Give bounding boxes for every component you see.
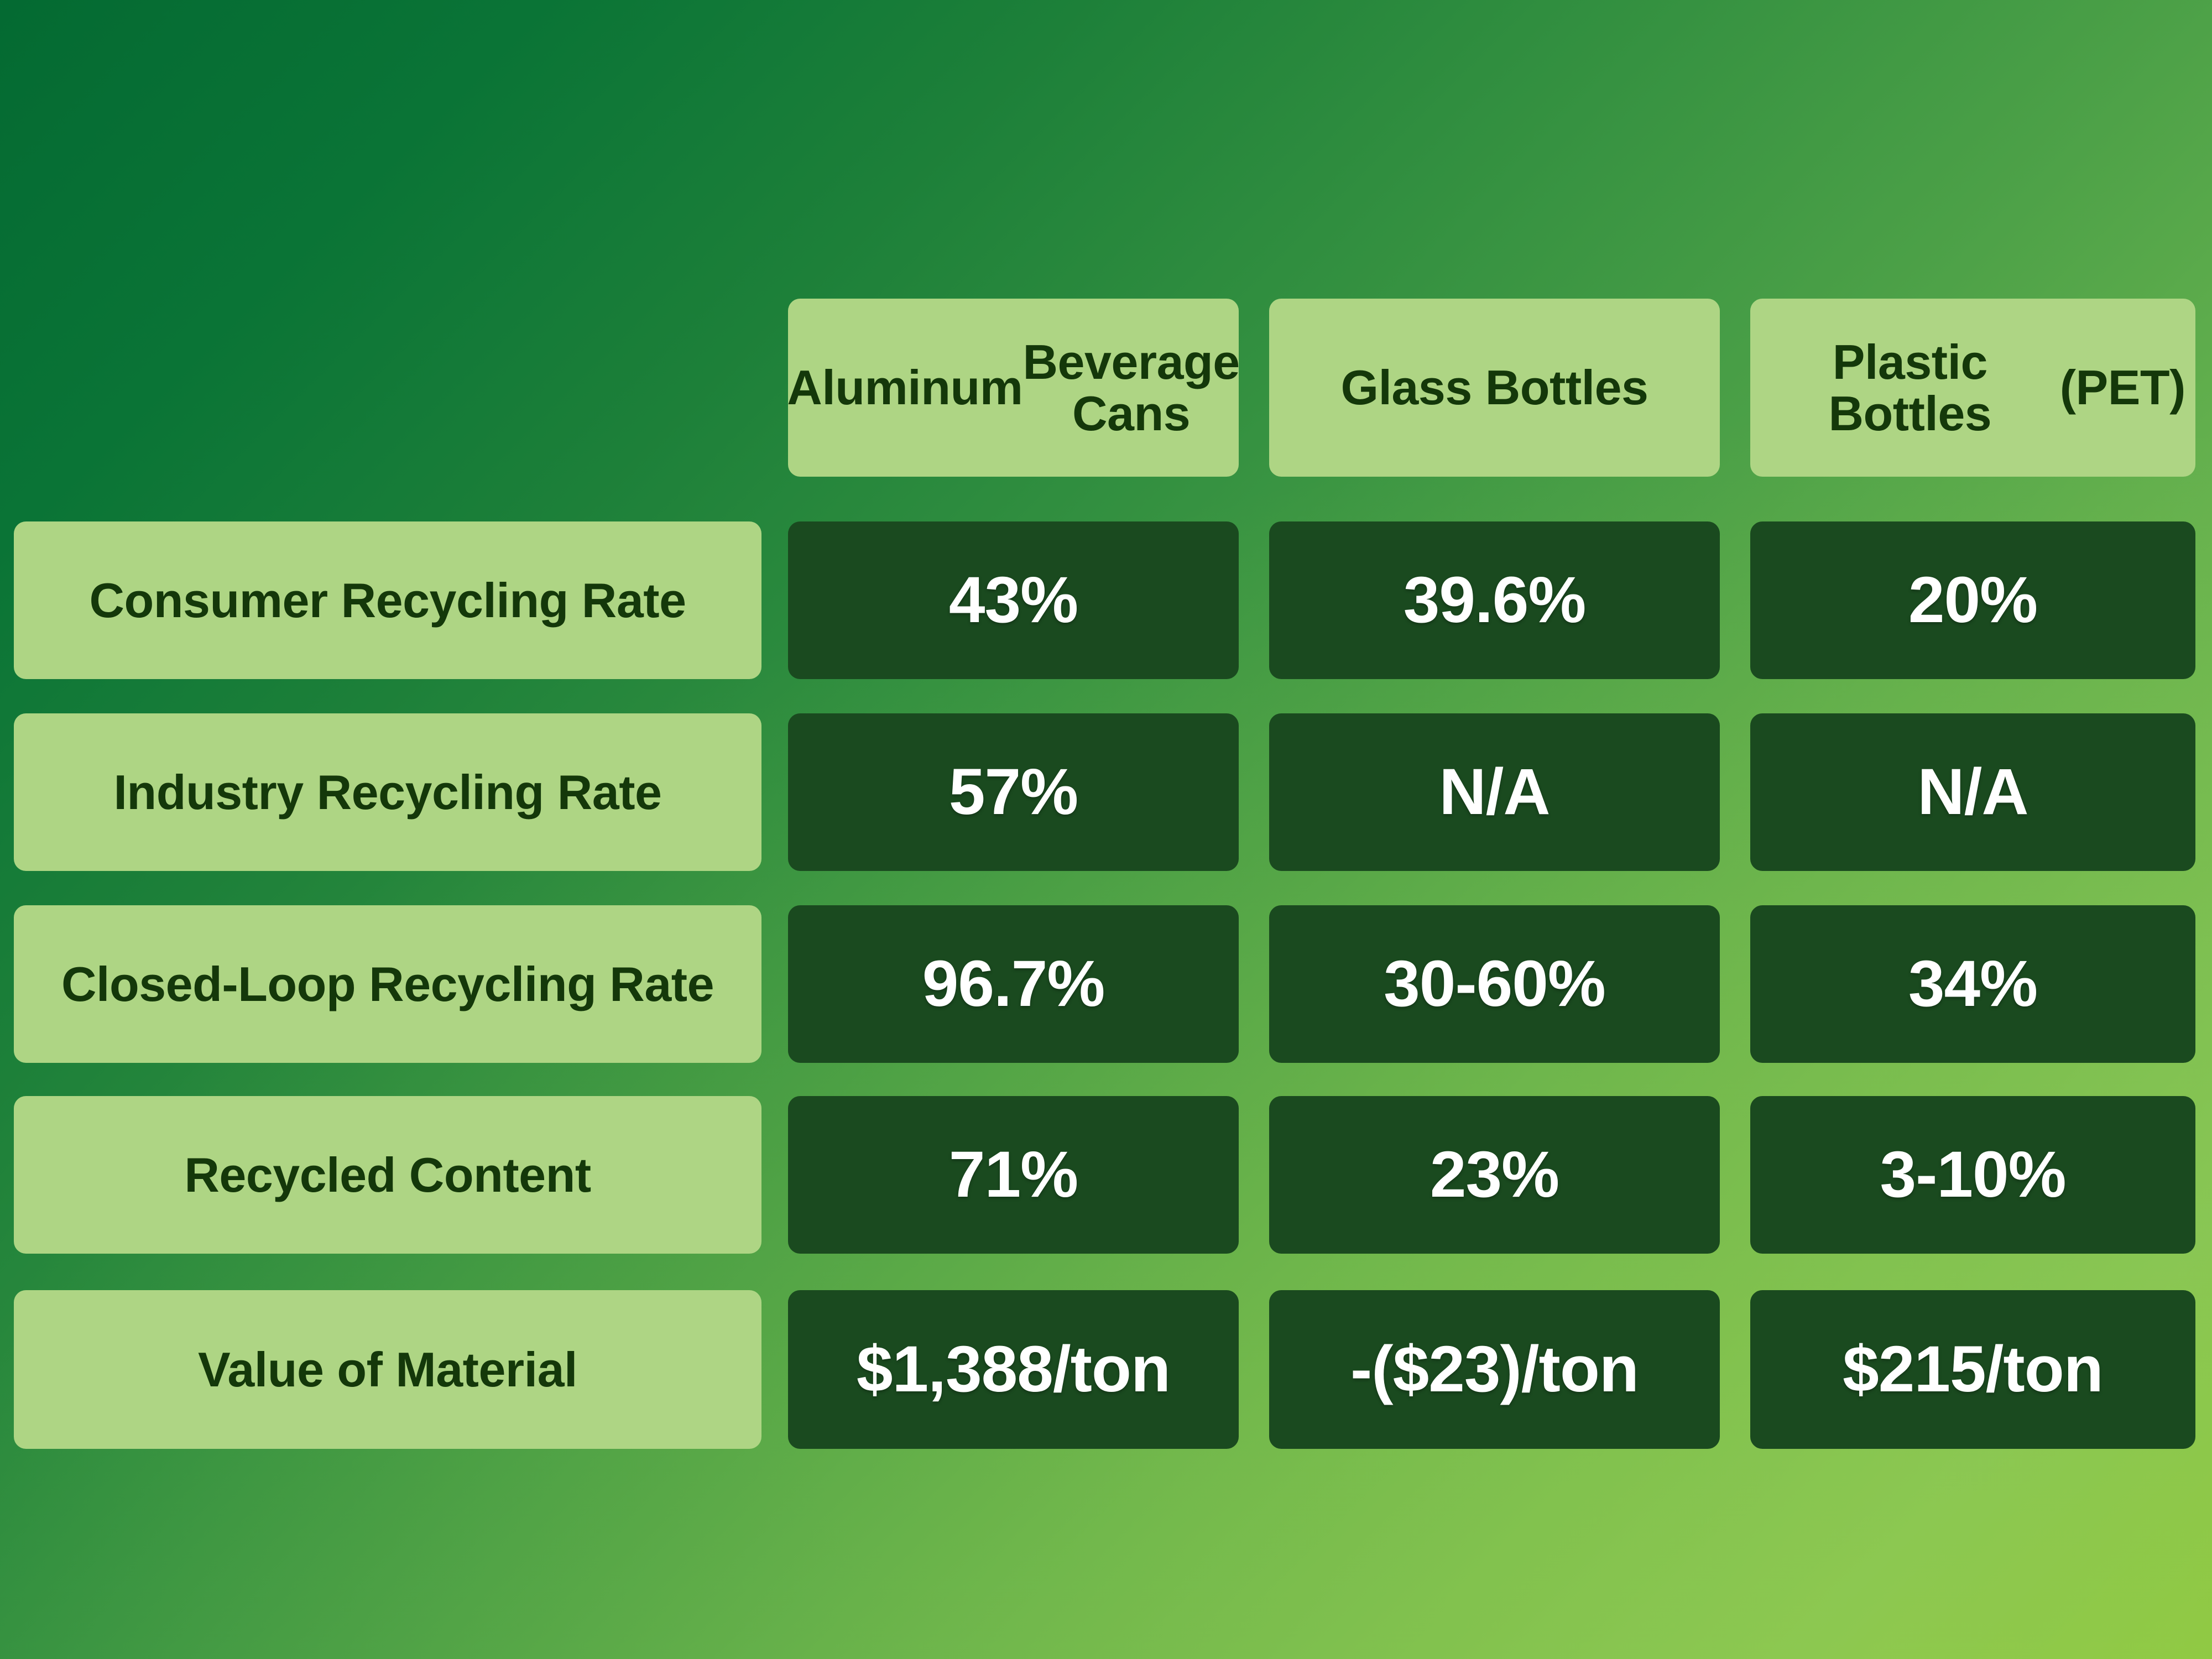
value-consumer-recycling-rate-plastic: 20% <box>1750 521 2195 679</box>
row-gap <box>1269 679 1720 713</box>
row-gap <box>788 477 1239 521</box>
value-closed-loop-recycling-rate-glass: 30-60% <box>1269 905 1720 1063</box>
value-industry-recycling-rate-glass: N/A <box>1269 713 1720 871</box>
column-gap <box>1239 1096 1269 1254</box>
slide-canvas: Aluminum Beverage Cans Glass Bottles Pla… <box>0 0 2212 1659</box>
row-gap <box>761 871 788 905</box>
value-consumer-recycling-rate-aluminum: 43% <box>788 521 1239 679</box>
column-gap <box>761 299 788 477</box>
row-gap <box>761 1254 788 1290</box>
row-gap <box>1750 1254 2195 1290</box>
row-label-consumer-recycling-rate: Consumer Recycling Rate <box>14 521 761 679</box>
row-gap <box>761 477 788 521</box>
comparison-table: Aluminum Beverage Cans Glass Bottles Pla… <box>14 299 2195 1449</box>
column-gap <box>1239 299 1269 477</box>
row-gap <box>14 1254 761 1290</box>
column-gap <box>1720 521 1750 679</box>
row-gap <box>1750 679 2195 713</box>
column-gap <box>761 905 788 1063</box>
row-gap <box>1720 679 1750 713</box>
row-gap <box>1269 1254 1720 1290</box>
value-closed-loop-recycling-rate-aluminum: 96.7% <box>788 905 1239 1063</box>
row-gap <box>14 477 761 521</box>
row-label-industry-recycling-rate: Industry Recycling Rate <box>14 713 761 871</box>
row-gap <box>1750 1063 2195 1096</box>
column-header-plastic-line2: (PET) <box>2060 362 2185 413</box>
row-gap <box>1239 477 1269 521</box>
column-header-aluminum-line2: Beverage Cans <box>1022 336 1239 440</box>
value-value-of-material-aluminum: $1,388/ton <box>788 1290 1239 1449</box>
row-gap <box>1720 1063 1750 1096</box>
column-gap <box>1239 1290 1269 1449</box>
column-gap <box>1239 905 1269 1063</box>
row-gap <box>761 679 788 713</box>
column-header-glass: Glass Bottles <box>1269 299 1720 477</box>
column-header-aluminum: Aluminum Beverage Cans <box>788 299 1239 477</box>
row-gap <box>788 871 1239 905</box>
row-gap <box>14 1063 761 1096</box>
row-gap <box>1239 1063 1269 1096</box>
row-gap <box>1269 1063 1720 1096</box>
column-gap <box>761 713 788 871</box>
row-gap <box>1269 871 1720 905</box>
row-gap <box>1750 477 2195 521</box>
value-consumer-recycling-rate-glass: 39.6% <box>1269 521 1720 679</box>
row-gap <box>1720 871 1750 905</box>
row-gap <box>1750 871 2195 905</box>
row-gap <box>1269 477 1720 521</box>
row-gap <box>1720 477 1750 521</box>
column-header-plastic: Plastic Bottles (PET) <box>1750 299 2195 477</box>
row-gap <box>788 679 1239 713</box>
column-header-plastic-line1: Plastic Bottles <box>1760 336 2060 440</box>
row-label-closed-loop-recycling-rate: Closed-Loop Recycling Rate <box>14 905 761 1063</box>
row-gap <box>1239 679 1269 713</box>
row-gap <box>14 871 761 905</box>
value-recycled-content-glass: 23% <box>1269 1096 1720 1254</box>
column-gap <box>1239 713 1269 871</box>
row-gap <box>788 1063 1239 1096</box>
row-gap <box>1720 1254 1750 1290</box>
value-value-of-material-plastic: $215/ton <box>1750 1290 2195 1449</box>
column-header-glass-line1: Glass Bottles <box>1341 362 1648 413</box>
row-gap <box>1239 871 1269 905</box>
row-label-recycled-content: Recycled Content <box>14 1096 761 1254</box>
column-gap <box>761 1290 788 1449</box>
value-industry-recycling-rate-aluminum: 57% <box>788 713 1239 871</box>
row-gap <box>788 1254 1239 1290</box>
column-gap <box>1720 1096 1750 1254</box>
row-gap <box>14 679 761 713</box>
row-gap <box>1239 1254 1269 1290</box>
column-gap <box>1720 713 1750 871</box>
value-value-of-material-glass: -($23)/ton <box>1269 1290 1720 1449</box>
row-gap <box>761 1063 788 1096</box>
value-recycled-content-aluminum: 71% <box>788 1096 1239 1254</box>
value-closed-loop-recycling-rate-plastic: 34% <box>1750 905 2195 1063</box>
table-corner-cell <box>14 299 761 477</box>
value-recycled-content-plastic: 3-10% <box>1750 1096 2195 1254</box>
column-header-aluminum-line1: Aluminum <box>787 362 1022 413</box>
column-gap <box>761 521 788 679</box>
column-gap <box>1239 521 1269 679</box>
value-industry-recycling-rate-plastic: N/A <box>1750 713 2195 871</box>
row-label-value-of-material: Value of Material <box>14 1290 761 1449</box>
column-gap <box>1720 299 1750 477</box>
column-gap <box>761 1096 788 1254</box>
column-gap <box>1720 1290 1750 1449</box>
column-gap <box>1720 905 1750 1063</box>
